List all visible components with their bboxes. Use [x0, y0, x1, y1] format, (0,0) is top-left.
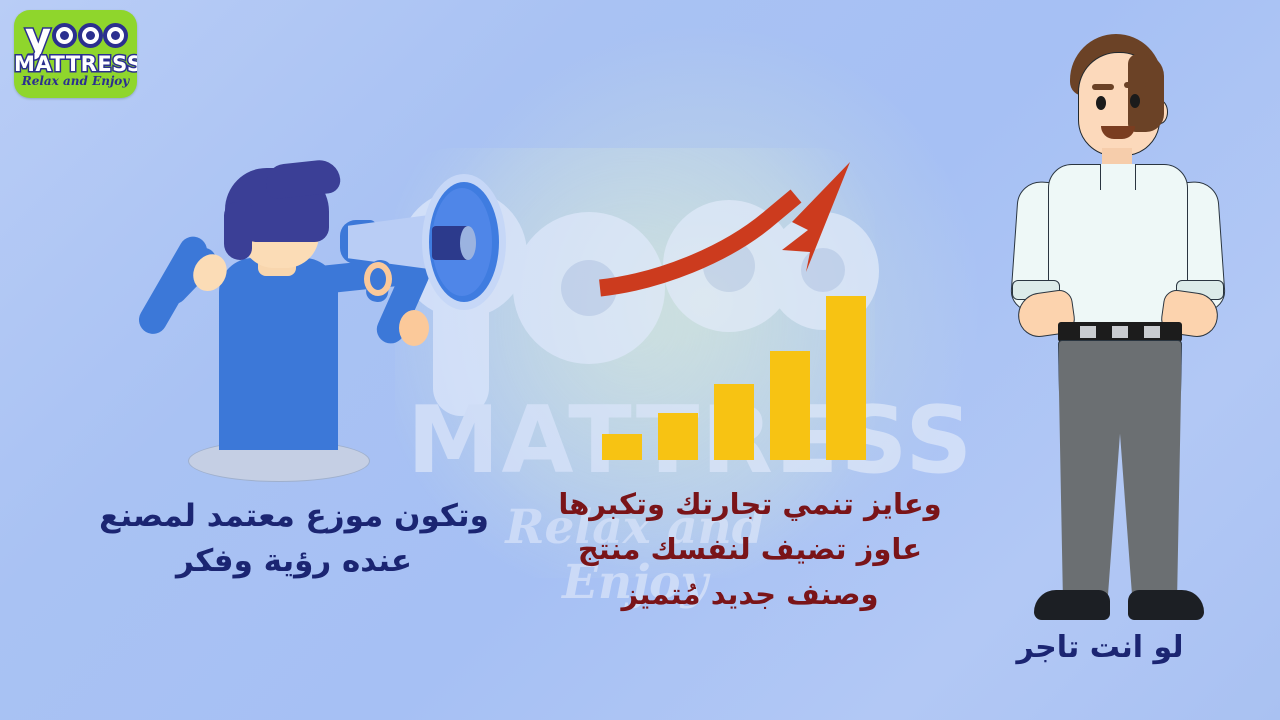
left-message: وتكون موزع معتمد لمصنع عنده رؤية وفكر — [74, 494, 514, 584]
merchant-shoe-right — [1128, 590, 1204, 620]
logo-letter-a — [103, 23, 128, 48]
merchant-shoe-left — [1034, 590, 1110, 620]
trend-arrow-icon — [596, 160, 886, 460]
merchant-eyebrow-left — [1092, 84, 1114, 90]
left-message-line-2: عنده رؤية وفكر — [74, 539, 514, 584]
left-message-line-1: وتكون موزع معتمد لمصنع — [74, 494, 514, 539]
merchant-eyebrow-right — [1124, 82, 1146, 88]
center-message-line-2: عاوز تضيف لنفسك منتج — [520, 527, 980, 572]
right-message-line-1: لو انت تاجر — [960, 628, 1240, 667]
merchant-eye-left — [1096, 96, 1106, 110]
merchant-hair-side — [1128, 54, 1164, 132]
logo-letter-g — [78, 23, 103, 48]
megaphone-driver-cap — [460, 226, 476, 260]
logo-letter-o — [52, 23, 77, 48]
announcer-hair-top — [264, 158, 341, 200]
announcer-raised-hand — [187, 248, 233, 297]
merchant-collar — [1100, 164, 1136, 190]
logo-wordmark: y — [14, 14, 137, 56]
center-message-line-1: وعايز تنمي تجارتك وتكبرها — [520, 482, 980, 527]
logo-tagline: Relax and Enjoy — [14, 74, 137, 88]
announcer-raised-arm — [114, 210, 244, 328]
merchant-character — [1000, 22, 1230, 622]
growth-chart — [600, 160, 880, 460]
announcer-upper-arm — [134, 231, 212, 339]
merchant-trousers — [1058, 340, 1182, 600]
poster-canvas: MATTRESS Relax and Enjoy y MATTRESS Rela… — [0, 0, 1280, 720]
brand-logo[interactable]: y MATTRESS Relax and Enjoy — [14, 10, 137, 98]
megaphone-icon — [340, 168, 515, 316]
merchant-eye-right — [1130, 94, 1140, 108]
announcer-forearm — [156, 242, 222, 309]
logo-subtitle: MATTRESS — [14, 52, 137, 76]
center-message: وعايز تنمي تجارتك وتكبرها عاوز تضيف لنفس… — [520, 482, 980, 617]
center-message-line-3: وصنف جديد مُتميز — [520, 572, 980, 617]
right-message: لو انت تاجر — [960, 628, 1240, 667]
merchant-belt — [1058, 322, 1182, 342]
megaphone-hand-ring — [364, 262, 392, 296]
